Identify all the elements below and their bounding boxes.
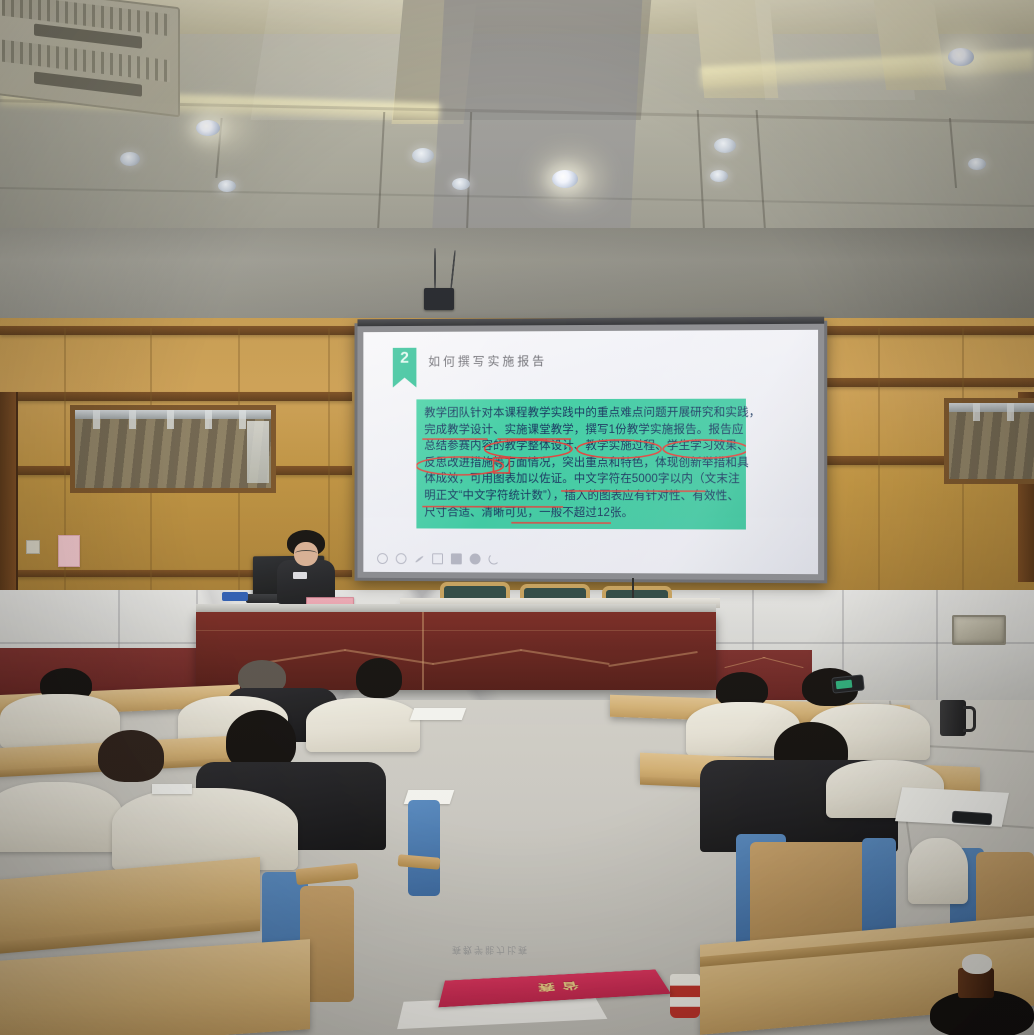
downlight-icon xyxy=(196,120,220,136)
lecture-hall-photo: 2 如何撰写实施报告 教学团队针对本课程教学实践中的重点难点问题开展研究和实践，… xyxy=(0,0,1034,1035)
projection-screen: 2 如何撰写实施报告 教学团队针对本课程教学实践中的重点难点问题开展研究和实践，… xyxy=(355,321,828,584)
next-slide-icon[interactable] xyxy=(396,553,407,564)
upper-wall xyxy=(0,228,1034,320)
body-line: 完成教学设计、实施课堂教学，撰写1份教学实施报告。报告应 xyxy=(424,421,738,438)
downlight-icon xyxy=(552,170,578,188)
downlight-icon xyxy=(218,180,236,192)
section-number-badge: 2 xyxy=(393,348,417,378)
downlight-icon xyxy=(120,152,140,166)
paper-cup xyxy=(670,974,700,1018)
audience-head xyxy=(356,658,402,698)
pen-icon[interactable] xyxy=(415,555,424,563)
projector-cable xyxy=(434,248,436,290)
seat-cover xyxy=(908,838,968,904)
screen-roller-bar xyxy=(357,317,824,327)
wall-mounted-box xyxy=(952,615,1006,645)
body-line: 体成效，可用图表加以佐证。中文字符在5000字以内（文末注 xyxy=(424,471,738,488)
pointer-icon[interactable] xyxy=(432,553,443,564)
downlight-icon xyxy=(710,170,728,182)
desk-paper xyxy=(152,784,192,794)
presenter-badge xyxy=(293,572,307,579)
floor-reflection-text: 赛教学能力比赛 xyxy=(452,944,672,957)
left-door[interactable] xyxy=(0,392,18,600)
slide-view-icon[interactable] xyxy=(451,553,462,564)
previous-slide-icon[interactable] xyxy=(377,553,388,564)
glasses-icon xyxy=(295,550,317,557)
ceiling-projector-icon xyxy=(424,288,454,310)
seat-cover xyxy=(112,788,298,870)
downlight-icon xyxy=(968,158,986,170)
recording-phone[interactable] xyxy=(831,674,864,693)
downlight-icon xyxy=(412,148,434,163)
seat-cover xyxy=(0,694,120,748)
seat-cover xyxy=(306,698,420,752)
body-line: 总结参赛内容的教学整体设计、教学实施过程、学生学习效果、 xyxy=(424,438,738,455)
more-options-icon[interactable] xyxy=(470,553,481,564)
presenter xyxy=(275,530,337,602)
ceiling xyxy=(0,0,1034,235)
left-window xyxy=(70,405,276,493)
slide-header: 2 如何撰写实施报告 xyxy=(393,347,547,377)
thermos-handle xyxy=(963,706,976,732)
bottle-cap xyxy=(962,954,992,974)
slide-body-textbox: 教学团队针对本课程教学实践中的重点难点问题开展研究和实践， 完成教学设计、实施课… xyxy=(416,399,746,530)
powerpoint-slide: 2 如何撰写实施报告 教学团队针对本课程教学实践中的重点难点问题开展研究和实践，… xyxy=(363,330,818,574)
body-line: 反思改进措施等方面情况，突出重点和特色，体现创新举措和具 xyxy=(424,455,738,472)
seat-cover xyxy=(0,782,122,852)
cursor-icon[interactable] xyxy=(489,554,500,565)
audience-head xyxy=(98,730,164,782)
wall-notice xyxy=(58,535,80,567)
body-line: 明正文“中文字符统计数”），插入的图表应有针对性、有效性、 xyxy=(424,488,738,505)
downlight-icon xyxy=(714,138,736,153)
section-number: 2 xyxy=(400,348,409,370)
body-line: 教学团队针对本课程教学实践中的重点难点问题开展研究和实践， xyxy=(424,405,738,422)
downlight-icon xyxy=(452,178,470,190)
slide-title: 如何撰写实施报告 xyxy=(428,352,547,369)
powerpoint-presenter-toolbar[interactable] xyxy=(377,553,499,564)
light-switch[interactable] xyxy=(26,540,40,554)
right-window xyxy=(944,398,1034,484)
body-line: 尺寸合适、清晰可见，一般不超过12张。 xyxy=(424,504,738,521)
banner-text: 省赛 xyxy=(530,979,580,995)
seat-base xyxy=(408,800,440,896)
desk-blue-item xyxy=(222,592,248,601)
downlight-icon xyxy=(948,48,974,66)
desk-paper xyxy=(410,708,466,720)
